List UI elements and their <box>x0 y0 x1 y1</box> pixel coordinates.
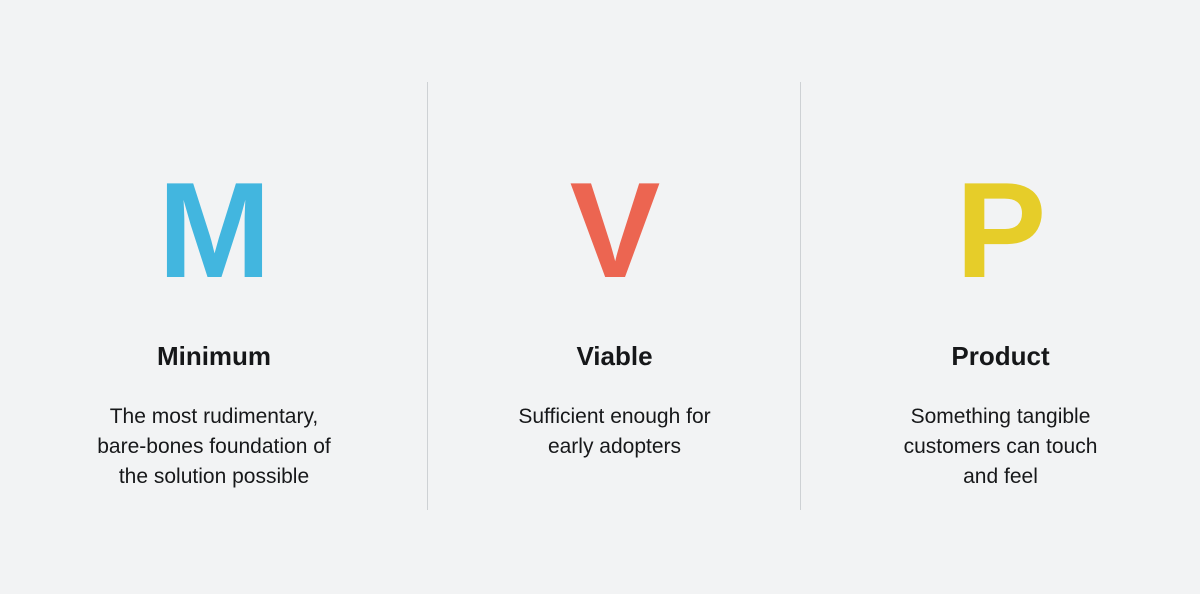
mvp-infographic: M Minimum The most rudimentary, bare-bon… <box>0 0 1200 594</box>
column-description-product: Something tangible customers can touch a… <box>904 402 1098 492</box>
letter-m-glyph: M <box>158 162 270 298</box>
column-heading-product: Product <box>951 341 1049 371</box>
mvp-column-viable: V Viable Sufficient enough for early ado… <box>428 0 801 462</box>
column-description-viable: Sufficient enough for early adopters <box>518 402 710 462</box>
column-description-minimum: The most rudimentary, bare-bones foundat… <box>97 402 331 492</box>
column-divider-right <box>800 82 801 510</box>
column-heading-minimum: Minimum <box>157 341 271 371</box>
mvp-columns: M Minimum The most rudimentary, bare-bon… <box>0 0 1200 594</box>
mvp-column-minimum: M Minimum The most rudimentary, bare-bon… <box>0 0 428 492</box>
column-heading-viable: Viable <box>576 341 652 371</box>
mvp-column-product: P Product Something tangible customers c… <box>801 0 1200 492</box>
letter-v-glyph: V <box>570 162 660 298</box>
letter-p-glyph: P <box>956 162 1046 298</box>
column-divider-left <box>427 82 428 510</box>
